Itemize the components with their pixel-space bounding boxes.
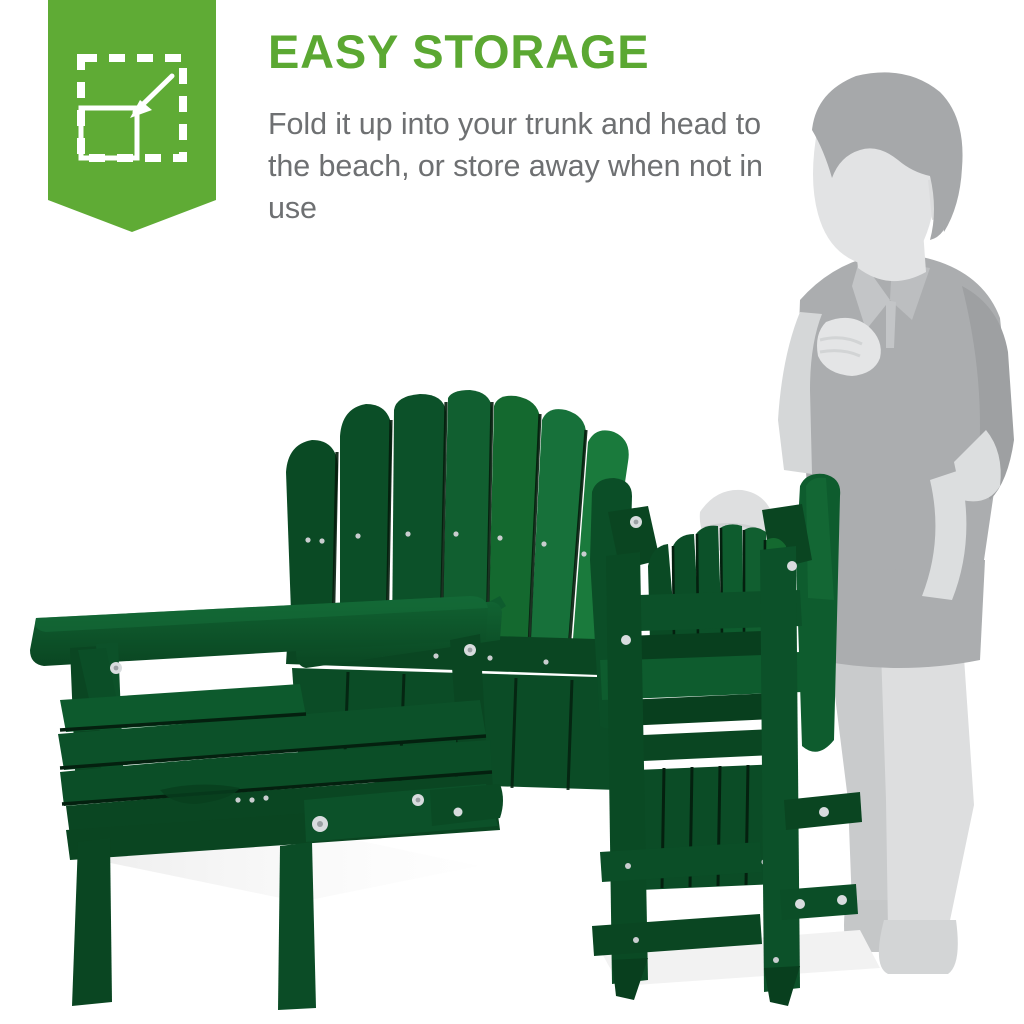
folded-leg-right (760, 546, 800, 992)
feature-description: Fold it up into your trunk and head to t… (268, 104, 768, 229)
folded-adirondack-chair (590, 474, 862, 1006)
front-leg (72, 838, 112, 1006)
solid-small-square (81, 108, 137, 158)
collapse-to-compact-square-icon (48, 46, 216, 176)
page-title: EASY STORAGE (268, 27, 649, 76)
open-adirondack-chair (30, 390, 630, 1010)
front-leg-2 (278, 842, 316, 1010)
product-feature-image: EASY STORAGE Fold it up into your trunk … (0, 0, 1024, 1024)
feature-banner (48, 0, 216, 232)
